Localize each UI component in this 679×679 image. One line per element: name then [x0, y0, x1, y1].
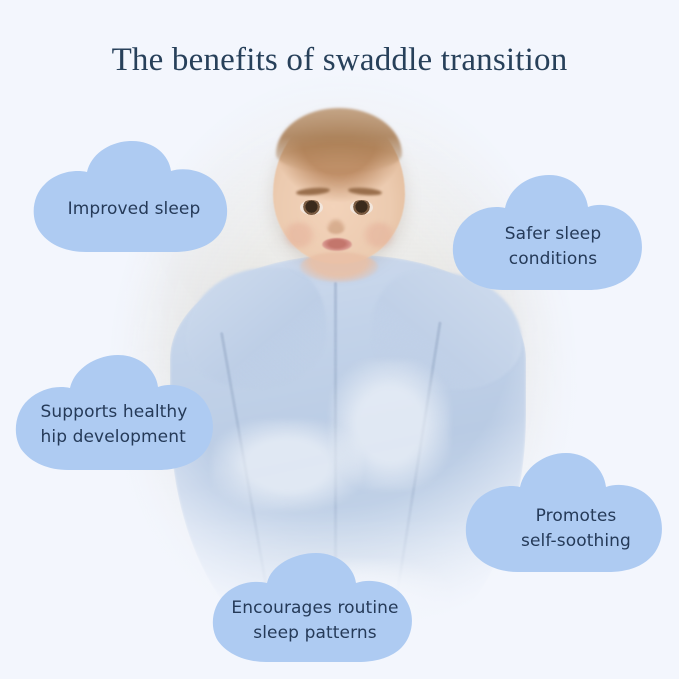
- cloud-label-self-soothing: Promotes self-soothing: [521, 504, 631, 553]
- cloud-label-hip-development: Supports healthy hip development: [41, 400, 188, 449]
- cloud-callout-safer-sleep: Safer sleep conditions: [447, 172, 647, 294]
- baby-cheek: [362, 222, 396, 248]
- baby-chin: [300, 252, 378, 282]
- cloud-callout-improved-sleep: Improved sleep: [28, 138, 236, 256]
- baby-eye: [300, 200, 323, 215]
- baby-cheek: [282, 222, 316, 248]
- baby-mouth: [322, 238, 352, 251]
- baby-head: [273, 112, 405, 264]
- baby-nose: [326, 218, 346, 234]
- baby-eye: [350, 200, 373, 215]
- page-title: The benefits of swaddle transition: [0, 42, 679, 79]
- cloud-label-safer-sleep: Safer sleep conditions: [505, 222, 601, 271]
- fabric-fold: [330, 360, 450, 490]
- swaddle-benefits-infographic: The benefits of swaddle transition Impro…: [0, 0, 679, 679]
- cloud-label-sleep-patterns: Encourages routine sleep patterns: [231, 596, 398, 645]
- baby-eyebrow: [296, 187, 330, 197]
- cloud-callout-self-soothing: Promotes self-soothing: [460, 450, 672, 576]
- baby-hair: [276, 108, 402, 172]
- cloud-callout-hip-development: Supports healthy hip development: [10, 352, 222, 474]
- cloud-callout-sleep-patterns: Encourages routine sleep patterns: [206, 550, 424, 664]
- fabric-fold: [212, 420, 362, 510]
- cloud-label-improved-sleep: Improved sleep: [68, 197, 201, 222]
- baby-eyebrow: [348, 187, 382, 197]
